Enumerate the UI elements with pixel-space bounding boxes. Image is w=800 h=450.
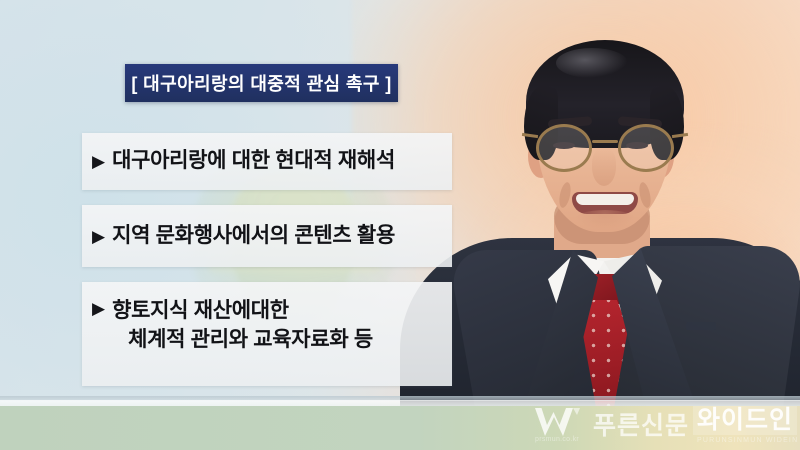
title-banner-text: [ 대구아리랑의 대중적 관심 촉구 ]	[131, 70, 391, 96]
bullet-marker-icon: ▶	[92, 228, 105, 245]
bullet-marker-icon: ▶	[92, 153, 105, 170]
bullet-text-3-line2: 체계적 관리와 교육자료화 등	[112, 326, 373, 355]
eyeglass-lens-right	[618, 124, 674, 172]
chin	[574, 210, 636, 230]
broadcast-lower-third-screen: [ 대구아리랑의 대중적 관심 촉구 ] ▶ 대구아리랑에 대한 현대적 재해석…	[0, 0, 800, 450]
station-watermark: prsmun.co.kr 푸른신문 와이드인 PURUNSINMUN WIDEI…	[533, 404, 795, 448]
bullet-text-2: 지역 문화행사에서의 콘텐츠 활용	[112, 222, 395, 251]
watermark-program-box: 와이드인 PURUNSINMUN WIDEIN	[693, 406, 797, 435]
bullet-text-3-line1: 향토지식 재산에대한	[112, 299, 289, 322]
eyeglass-lens-left	[536, 124, 592, 172]
bullet-bar-3: ▶ 향토지식 재산에대한 체계적 관리와 교육자료화 등	[82, 282, 452, 386]
guest-portrait	[436, 22, 800, 406]
watermark-program: 와이드인	[697, 407, 793, 433]
watermark-url: prsmun.co.kr	[535, 436, 579, 443]
bullet-marker-icon: ▶	[92, 300, 105, 317]
bullet-bar-1: ▶ 대구아리랑에 대한 현대적 재해석	[82, 133, 452, 190]
eyeglass-bridge	[592, 140, 618, 143]
title-banner: [ 대구아리랑의 대중적 관심 촉구 ]	[125, 64, 398, 102]
bullet-bar-2: ▶ 지역 문화행사에서의 콘텐츠 활용	[82, 205, 452, 267]
hair-highlight	[556, 48, 628, 78]
bullet-text-3: 향토지식 재산에대한 체계적 관리와 교육자료화 등	[112, 297, 373, 355]
suit-pocket	[686, 322, 716, 330]
w-logo-icon: prsmun.co.kr	[533, 406, 589, 440]
watermark-brand: 푸른신문	[593, 406, 689, 442]
teeth	[576, 194, 634, 205]
bullet-text-1: 대구아리랑에 대한 현대적 재해석	[112, 147, 395, 176]
watermark-program-en: PURUNSINMUN WIDEIN	[697, 437, 798, 444]
nose	[592, 148, 616, 186]
